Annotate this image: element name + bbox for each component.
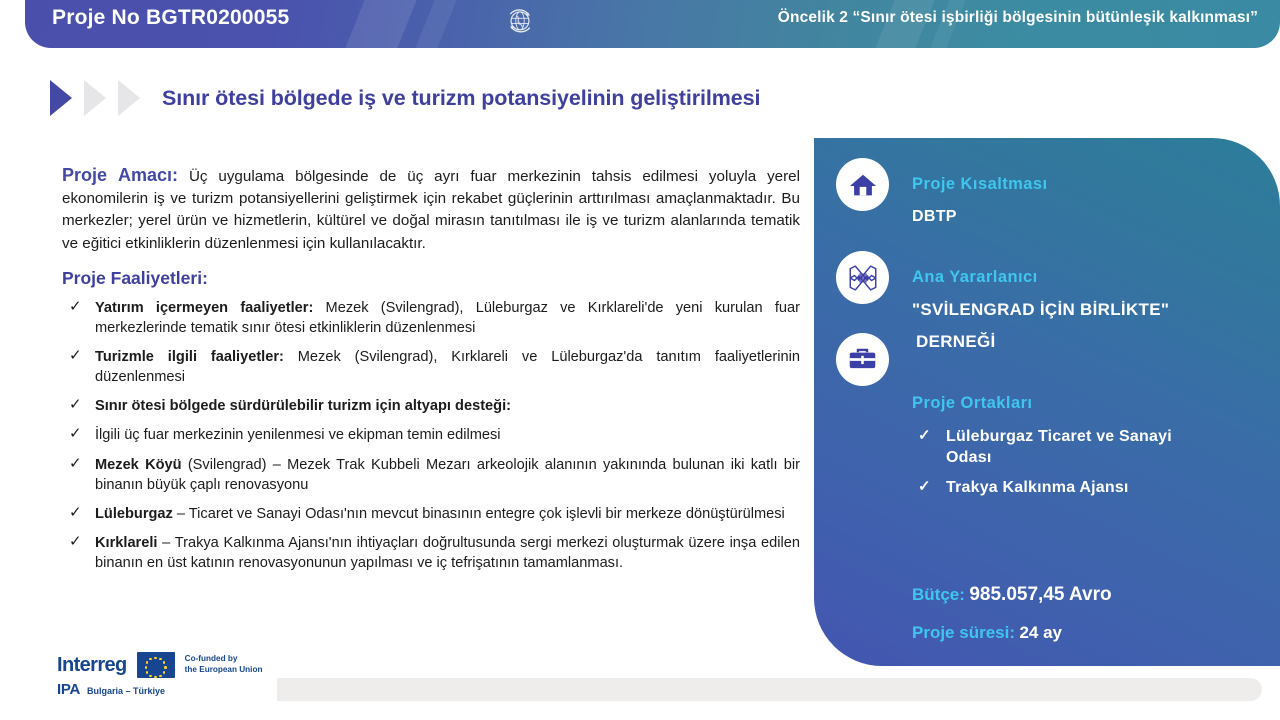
check-icon: ✓ bbox=[69, 424, 82, 445]
budget-value: 985.057,45 Avro bbox=[969, 584, 1111, 605]
slide-root: Proje No BGTR0200055 Öncelik 2 “Sınır öt… bbox=[0, 0, 1280, 720]
beneficiary-value-line1: "SVİLENGRAD İÇİN BİRLİKTE" bbox=[912, 300, 1169, 320]
list-item: ✓ Yatırım içermeyen faaliyetler: Mezek (… bbox=[62, 298, 800, 338]
duration-value: 24 ay bbox=[1019, 623, 1062, 642]
check-icon: ✓ bbox=[69, 454, 82, 475]
bottom-accent-bar bbox=[277, 678, 1262, 701]
budget-row: Bütçe: 985.057,45 Avro bbox=[912, 584, 1112, 606]
partner-name: Lüleburgaz Ticaret ve Sanayi Odası bbox=[946, 428, 1172, 466]
check-icon: ✓ bbox=[918, 477, 931, 497]
arrow-icon-3 bbox=[118, 80, 140, 116]
globe-rotate-icon bbox=[503, 3, 537, 37]
eu-flag-icon bbox=[137, 652, 175, 678]
info-panel: Proje Kısaltması DBTP Ana Yararlanıcı "S… bbox=[814, 138, 1280, 666]
list-item: ✓ Sınır ötesi bölgede sürdürülebilir tur… bbox=[62, 396, 800, 416]
check-icon: ✓ bbox=[69, 346, 82, 367]
item-bold: Yatırım içermeyen faaliyetler: bbox=[95, 300, 313, 316]
check-icon: ✓ bbox=[69, 297, 82, 318]
duration-label: Proje süresi: bbox=[912, 623, 1015, 642]
priority-label: Öncelik 2 “Sınır ötesi işbirliği bölgesi… bbox=[778, 9, 1258, 27]
partner-name: Trakya Kalkınma Ajansı bbox=[946, 479, 1129, 496]
check-icon: ✓ bbox=[918, 426, 931, 446]
arrow-icon-2 bbox=[84, 80, 106, 116]
item-bold: Sınır ötesi bölgede sürdürülebilir turiz… bbox=[95, 398, 511, 414]
duration-row: Proje süresi: 24 ay bbox=[912, 623, 1062, 643]
partners-list: ✓ Lüleburgaz Ticaret ve Sanayi Odası ✓ T… bbox=[914, 426, 1214, 507]
interreg-wordmark: Interreg bbox=[57, 655, 127, 675]
header-sheen bbox=[405, 0, 467, 48]
list-item: ✓ İlgili üç fuar merkezinin yenilenmesi … bbox=[62, 425, 800, 445]
briefcase-icon bbox=[836, 333, 889, 386]
item-bold: Lüleburgaz bbox=[95, 506, 173, 522]
beneficiary-label: Ana Yararlanıcı bbox=[912, 268, 1038, 287]
project-aim-paragraph: Proje Amacı: Üç uygulama bölgesinde de ü… bbox=[62, 162, 800, 255]
handshake-icon bbox=[836, 251, 889, 304]
item-bold: Turizmle ilgili faaliyetler: bbox=[95, 349, 284, 365]
budget-label: Bütçe: bbox=[912, 585, 965, 604]
interreg-logo: Interreg Co-funded by the European Union bbox=[57, 652, 262, 698]
list-item: ✓ Trakya Kalkınma Ajansı bbox=[914, 477, 1214, 498]
list-item: ✓ Turizmle ilgili faaliyetler: Mezek (Sv… bbox=[62, 347, 800, 387]
check-icon: ✓ bbox=[69, 503, 82, 524]
title-arrows bbox=[50, 80, 140, 116]
cofunded-line1: Co-funded by bbox=[185, 654, 263, 665]
item-bold: Mezek Köyü bbox=[95, 457, 182, 473]
item-text: – Trakya Kalkınma Ajansı'nın ihtiyaçları… bbox=[95, 535, 800, 571]
beneficiary-value-line2: DERNEĞİ bbox=[916, 332, 996, 352]
activities-heading: Proje Faaliyetleri: bbox=[62, 268, 800, 289]
list-item: ✓ Mezek Köyü (Svilengrad) – Mezek Trak K… bbox=[62, 455, 800, 495]
slide-title: Sınır ötesi bölgede iş ve turizm potansi… bbox=[162, 86, 760, 111]
header-sheen bbox=[335, 0, 427, 48]
activities-list: ✓ Yatırım içermeyen faaliyetler: Mezek (… bbox=[62, 298, 800, 573]
left-content: Proje Amacı: Üç uygulama bölgesinde de ü… bbox=[62, 162, 800, 582]
list-item: ✓ Lüleburgaz – Ticaret ve Sanayi Odası'n… bbox=[62, 504, 800, 524]
project-aim-label: Proje Amacı: bbox=[62, 165, 178, 185]
project-number: Proje No BGTR0200055 bbox=[52, 6, 289, 30]
item-bold: Kırklareli bbox=[95, 535, 157, 551]
ipa-subtitle: Bulgaria – Türkiye bbox=[87, 686, 165, 696]
item-text: (Svilengrad) – Mezek Trak Kubbeli Mezarı… bbox=[95, 457, 800, 493]
check-icon: ✓ bbox=[69, 532, 82, 553]
item-text: İlgili üç fuar merkezinin yenilenmesi ve… bbox=[95, 427, 501, 443]
check-icon: ✓ bbox=[69, 395, 82, 416]
cofunded-line2: the European Union bbox=[185, 665, 263, 676]
list-item: ✓ Kırklareli – Trakya Kalkınma Ajansı'nı… bbox=[62, 533, 800, 573]
abbr-label: Proje Kısaltması bbox=[912, 175, 1048, 194]
partners-label: Proje Ortakları bbox=[912, 394, 1032, 413]
ipa-wordmark: IPA bbox=[57, 681, 80, 698]
home-icon bbox=[836, 158, 889, 211]
item-text: – Ticaret ve Sanayi Odası'nın mevcut bin… bbox=[173, 506, 785, 522]
list-item: ✓ Lüleburgaz Ticaret ve Sanayi Odası bbox=[914, 426, 1214, 468]
arrow-icon-1 bbox=[50, 80, 72, 116]
header-banner: Proje No BGTR0200055 Öncelik 2 “Sınır öt… bbox=[25, 0, 1280, 48]
abbr-value: DBTP bbox=[912, 208, 957, 226]
